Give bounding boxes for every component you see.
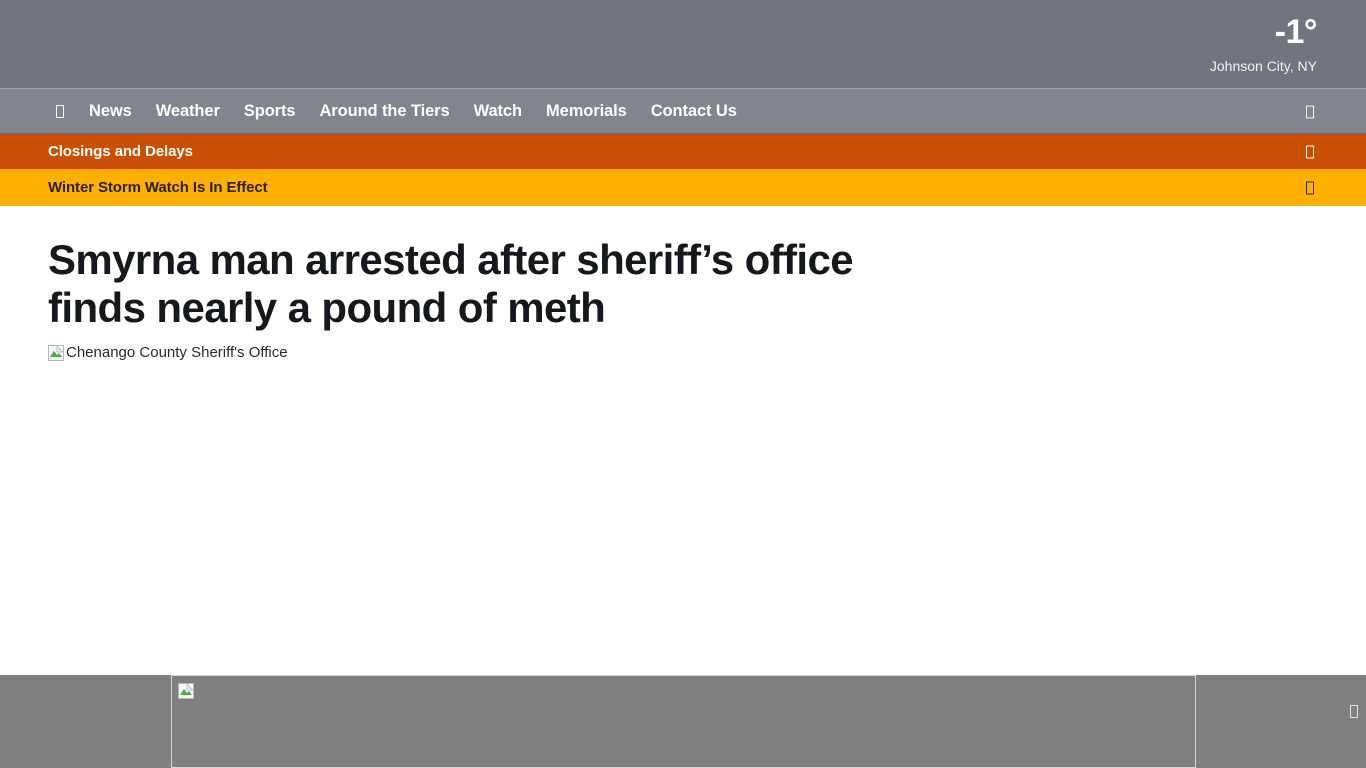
alert-closings-label: Closings and Delays [0, 143, 193, 160]
nav-item-memorials[interactable]: Memorials [546, 102, 627, 121]
close-icon[interactable] [1306, 144, 1314, 159]
close-icon[interactable] [1350, 703, 1358, 718]
article-container: Smyrna man arrested after sheriff’s offi… [0, 206, 1366, 362]
nav-item-around-the-tiers[interactable]: Around the Tiers [319, 102, 449, 121]
article-inner: Smyrna man arrested after sheriff’s offi… [0, 206, 1366, 362]
weather-temperature: -1° [1210, 14, 1317, 50]
search-icon[interactable] [1306, 104, 1314, 119]
nav-item-weather[interactable]: Weather [156, 102, 220, 121]
missing-glyph-box [1306, 145, 1314, 158]
missing-glyph-box [1306, 105, 1314, 118]
nav-item-contact-us[interactable]: Contact Us [651, 102, 737, 121]
hamburger-menu-icon[interactable] [56, 105, 64, 118]
nav-item-sports[interactable]: Sports [244, 102, 296, 121]
page-root: -1° Johnson City, NY News Weather Sports… [0, 0, 1366, 768]
broken-image-icon [48, 345, 64, 361]
weather-location: Johnson City, NY [1210, 57, 1317, 75]
broken-image-icon [178, 683, 194, 699]
site-header: -1° Johnson City, NY [0, 0, 1366, 88]
nav-items-container: News Weather Sports Around the Tiers Wat… [0, 89, 737, 133]
nav-item-news[interactable]: News [89, 102, 132, 121]
page-title: Smyrna man arrested after sheriff’s offi… [48, 236, 948, 332]
bottom-media-placeholder[interactable] [171, 675, 1196, 768]
bottom-sticky-bar [0, 675, 1366, 768]
nav-item-watch[interactable]: Watch [474, 102, 522, 121]
close-icon[interactable] [1306, 180, 1314, 195]
alert-bar-closings-and-delays[interactable]: Closings and Delays [0, 133, 1366, 169]
article-image-alt-text: Chenango County Sheriff's Office [66, 344, 288, 362]
alert-bar-winter-storm-watch[interactable]: Winter Storm Watch Is In Effect [0, 169, 1366, 206]
alert-watch-label: Winter Storm Watch Is In Effect [0, 179, 268, 196]
main-navigation: News Weather Sports Around the Tiers Wat… [0, 88, 1366, 133]
missing-glyph-box [56, 105, 64, 118]
article-figure: Chenango County Sheriff's Office [48, 344, 1318, 362]
missing-glyph-box [1350, 705, 1358, 718]
missing-glyph-box [1306, 182, 1314, 195]
weather-widget[interactable]: -1° Johnson City, NY [1210, 14, 1317, 75]
